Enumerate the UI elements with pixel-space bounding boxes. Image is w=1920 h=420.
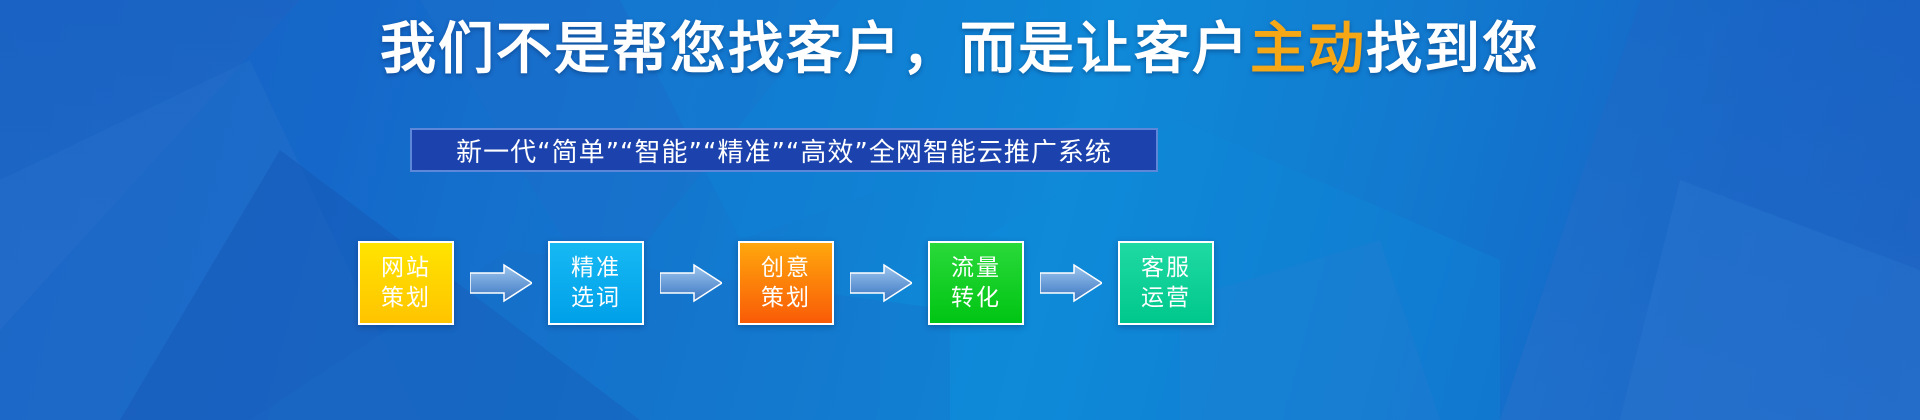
chevron-right-arrow-icon: [660, 263, 722, 303]
flow-step-line1: 网站: [381, 253, 431, 283]
headline-highlight: 主动: [1250, 17, 1366, 82]
flow-step-line2: 策划: [761, 283, 811, 313]
flow-step-line2: 转化: [951, 283, 1001, 313]
flow-step-line1: 精准: [571, 253, 621, 283]
subtitle-ribbon: 新一代“简单”“智能”“精准”“高效”全网智能云推广系统: [410, 128, 1158, 172]
flow-step-line2: 选词: [571, 283, 621, 313]
flow-step-line1: 客服: [1141, 253, 1191, 283]
flow-step-website-planning[interactable]: 网站 策划: [358, 241, 454, 325]
flow-step-line1: 创意: [761, 253, 811, 283]
flow-step-line2: 策划: [381, 283, 431, 313]
headline: 我们不是帮您找客户，而是让客户主动找到您: [0, 18, 1920, 82]
flow-step-precise-keywords[interactable]: 精准 选词: [548, 241, 644, 325]
subtitle-text: 新一代“简单”“智能”“精准”“高效”全网智能云推广系统: [456, 132, 1112, 169]
headline-suffix: 找到您: [1366, 17, 1540, 82]
promo-banner: 我们不是帮您找客户，而是让客户主动找到您 新一代“简单”“智能”“精准”“高效”…: [0, 0, 1920, 420]
chevron-right-arrow-icon: [850, 263, 912, 303]
flow-step-line2: 运营: [1141, 283, 1191, 313]
flow-step-line1: 流量: [951, 253, 1001, 283]
chevron-right-arrow-icon: [470, 263, 532, 303]
headline-prefix: 我们不是帮您找客户，而是让客户: [380, 17, 1250, 82]
flow-step-creative-planning[interactable]: 创意 策划: [738, 241, 834, 325]
flow-step-customer-service[interactable]: 客服 运营: [1118, 241, 1214, 325]
chevron-right-arrow-icon: [1040, 263, 1102, 303]
flow-step-traffic-conversion[interactable]: 流量 转化: [928, 241, 1024, 325]
process-flow: 网站 策划 精准 选词 创意: [358, 228, 1568, 338]
